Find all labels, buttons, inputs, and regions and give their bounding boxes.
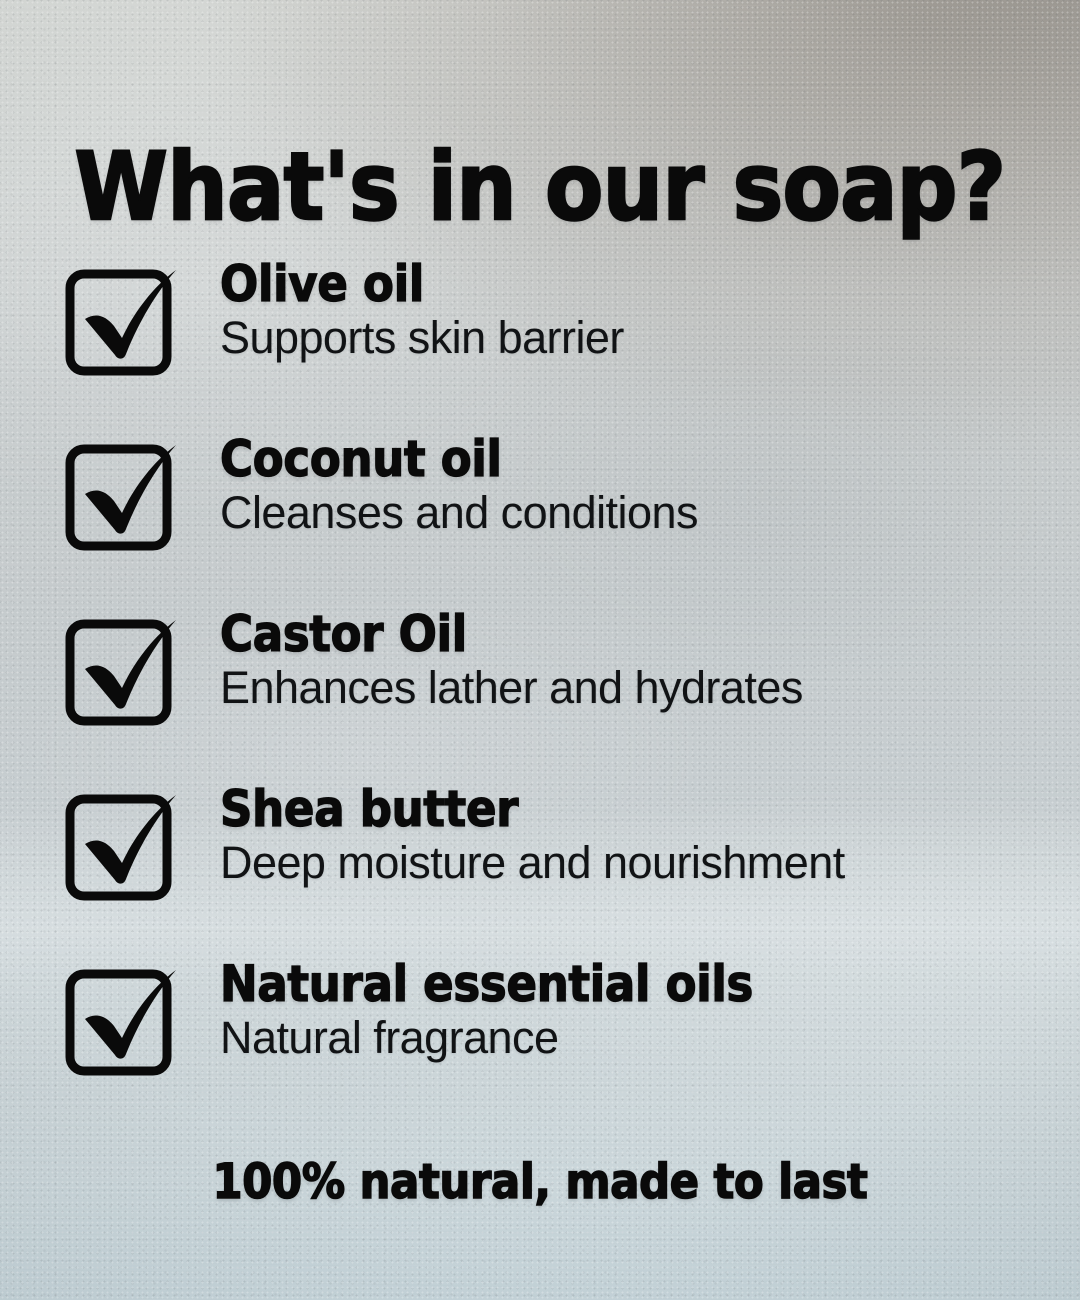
list-item: Coconut oil Cleanses and conditions xyxy=(0,427,1080,602)
ingredient-benefit: Cleanses and conditions xyxy=(220,488,1064,538)
ingredient-name: Natural essential oils xyxy=(220,958,1064,1011)
ingredient-benefit: Enhances lather and hydrates xyxy=(220,663,1064,713)
list-item: Castor Oil Enhances lather and hydrates xyxy=(0,602,1080,777)
checked-checkbox-icon xyxy=(62,262,182,382)
ingredient-name: Castor Oil xyxy=(220,608,1064,661)
tagline: 100% natural, made to last xyxy=(0,1158,1080,1206)
list-item-text: Natural essential oils Natural fragrance xyxy=(220,958,1064,1063)
soap-ingredients-poster: What's in our soap? Olive oil Supports s… xyxy=(0,0,1080,1300)
ingredient-benefit: Supports skin barrier xyxy=(220,313,1064,363)
poster-content: What's in our soap? Olive oil Supports s… xyxy=(0,0,1080,1300)
ingredient-benefit: Deep moisture and nourishment xyxy=(220,838,1064,888)
ingredient-name: Shea butter xyxy=(220,783,1064,836)
list-item-text: Olive oil Supports skin barrier xyxy=(220,258,1064,363)
ingredient-name: Coconut oil xyxy=(220,433,1064,486)
ingredient-name: Olive oil xyxy=(220,258,1064,311)
checked-checkbox-icon xyxy=(62,787,182,907)
list-item-text: Coconut oil Cleanses and conditions xyxy=(220,433,1064,538)
page-title: What's in our soap? xyxy=(0,141,1080,235)
checked-checkbox-icon xyxy=(62,962,182,1082)
checked-checkbox-icon xyxy=(62,437,182,557)
checked-checkbox-icon xyxy=(62,612,182,732)
list-item: Olive oil Supports skin barrier xyxy=(0,252,1080,427)
list-item: Shea butter Deep moisture and nourishmen… xyxy=(0,777,1080,952)
list-item: Natural essential oils Natural fragrance xyxy=(0,952,1080,1127)
list-item-text: Shea butter Deep moisture and nourishmen… xyxy=(220,783,1064,888)
ingredient-list: Olive oil Supports skin barrier Coconut … xyxy=(0,252,1080,1127)
ingredient-benefit: Natural fragrance xyxy=(220,1013,1064,1063)
list-item-text: Castor Oil Enhances lather and hydrates xyxy=(220,608,1064,713)
